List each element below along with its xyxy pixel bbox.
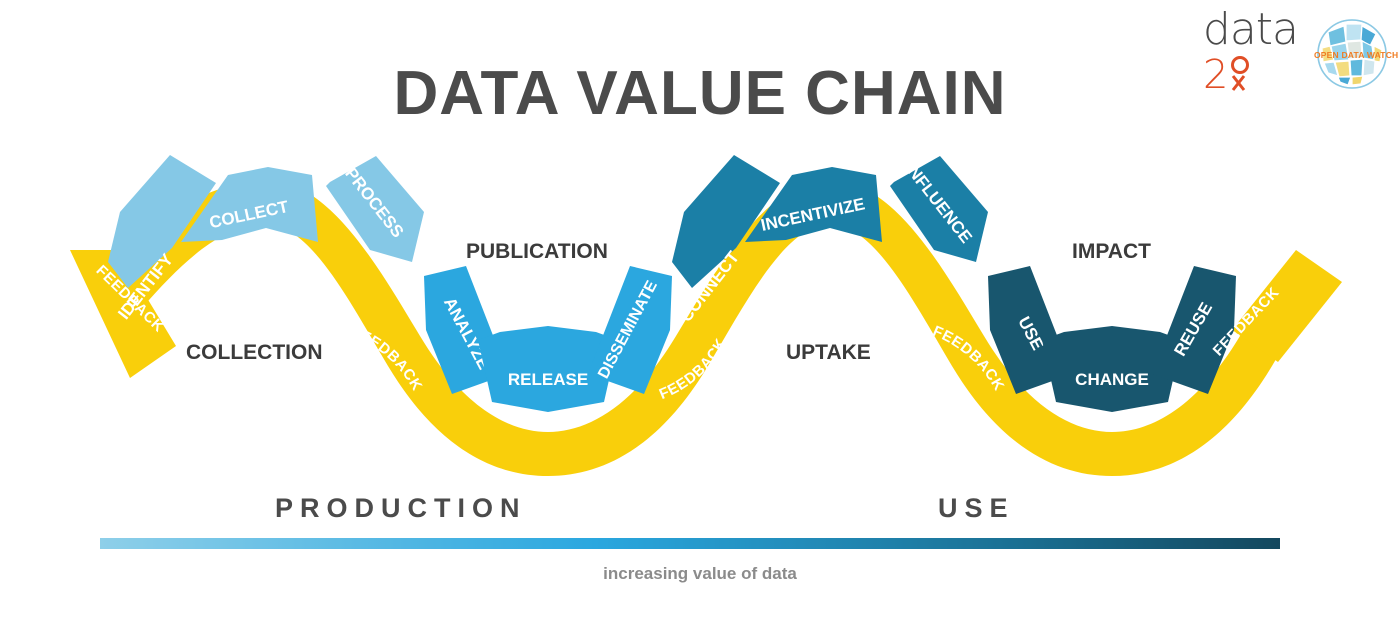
stage-label-uptake: UPTAKE [786, 341, 871, 365]
data2x-wordmark-dark: data [1203, 4, 1298, 55]
axis-label-production: PRODUCTION [275, 493, 527, 524]
value-gradient-bar [100, 538, 1280, 549]
stage-publication-segments: ANALYZE RELEASE DISSEMINATE [424, 266, 672, 412]
segment-change-label: CHANGE [1075, 370, 1149, 389]
stage-impact-segments: USE CHANGE REUSE [988, 266, 1236, 412]
axis-label-use: USE [938, 493, 1015, 524]
data-value-chain-infographic: data2 [0, 0, 1400, 642]
value-chain-wave: IDENTIFY COLLECT PROCESS ANALYZE [0, 150, 1400, 630]
segment-release-label: RELEASE [508, 370, 588, 389]
stage-label-publication: PUBLICATION [466, 240, 608, 264]
page-title: DATA VALUE CHAIN [0, 58, 1400, 129]
value-caption: increasing value of data [0, 564, 1400, 584]
stage-label-impact: IMPACT [1072, 240, 1151, 264]
stage-label-collection: COLLECTION [186, 341, 323, 365]
